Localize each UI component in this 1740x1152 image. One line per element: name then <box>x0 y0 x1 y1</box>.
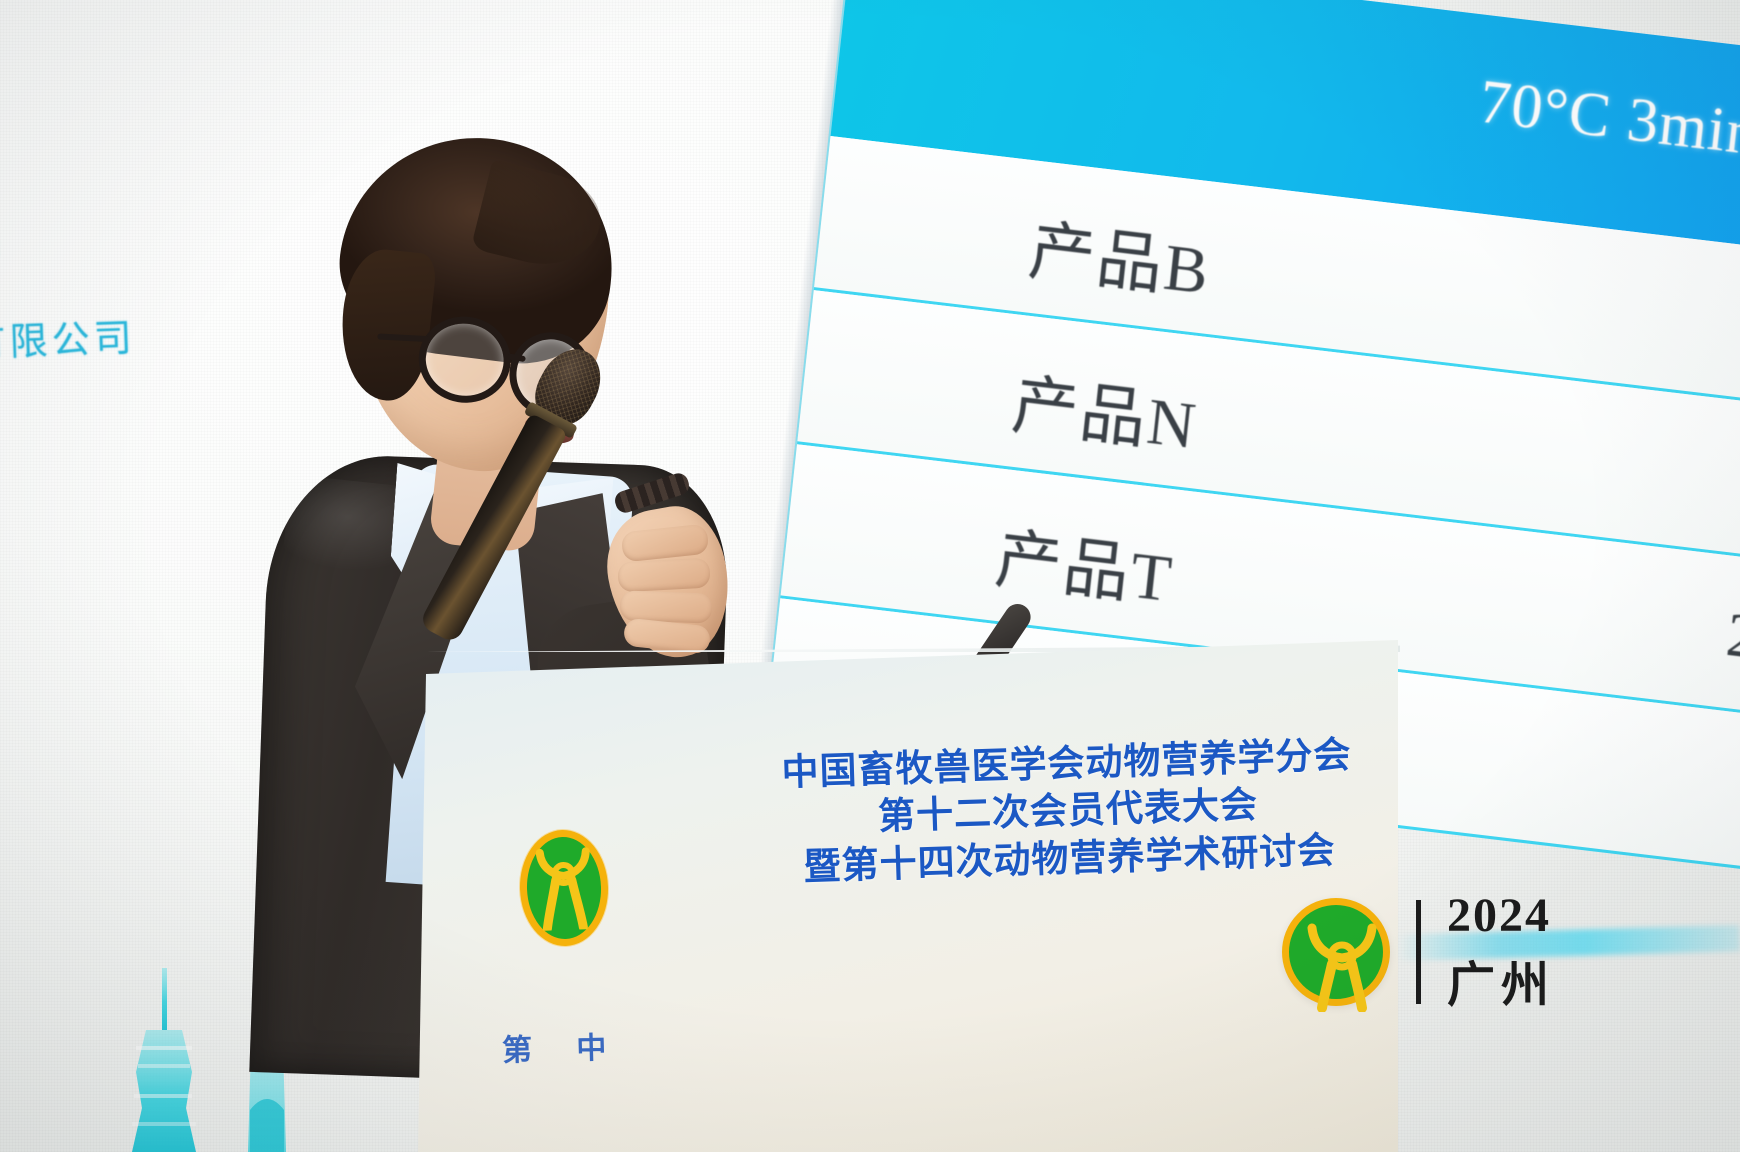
lectern-panel: 中国畜牧兽医学会动物营养学分会 第十二次会员代表大会 暨第十四次动物营养学术研讨… <box>418 640 1398 1152</box>
badge-year: 2024 <box>1447 888 1555 943</box>
lectern-association-logo <box>518 828 610 947</box>
badge-association-logo <box>1282 898 1390 1006</box>
lectern-partial-bottom-text: 第 中 <box>501 1022 624 1069</box>
slide-left-line-1: 技术体系 <box>0 18 352 74</box>
lectern-conference-title: 中国畜牧兽医学会动物营养学分会 第十二次会员代表大会 暨第十四次动物营养学术研讨… <box>756 730 1380 891</box>
finger <box>617 558 710 593</box>
event-badge: 2024 广州 <box>1282 888 1555 1015</box>
table-cell-product-name: 产品N <box>1008 351 1203 468</box>
badge-text-group: 2024 广州 <box>1447 888 1555 1015</box>
table-header-label: 70°C 3min <box>1476 67 1740 171</box>
badge-human-figure-icon <box>1288 904 1396 1012</box>
table-cell-product-name: 产品B <box>1025 197 1216 314</box>
logo-human-figure-icon <box>531 845 598 931</box>
badge-city: 广州 <box>1447 945 1555 1015</box>
table-cell-value: 2 <box>1723 600 1740 674</box>
screenshot-root: 技术体系 学会 有限公司 化传媒有限公司 <box>0 0 1740 1152</box>
badge-divider <box>1416 900 1421 1004</box>
